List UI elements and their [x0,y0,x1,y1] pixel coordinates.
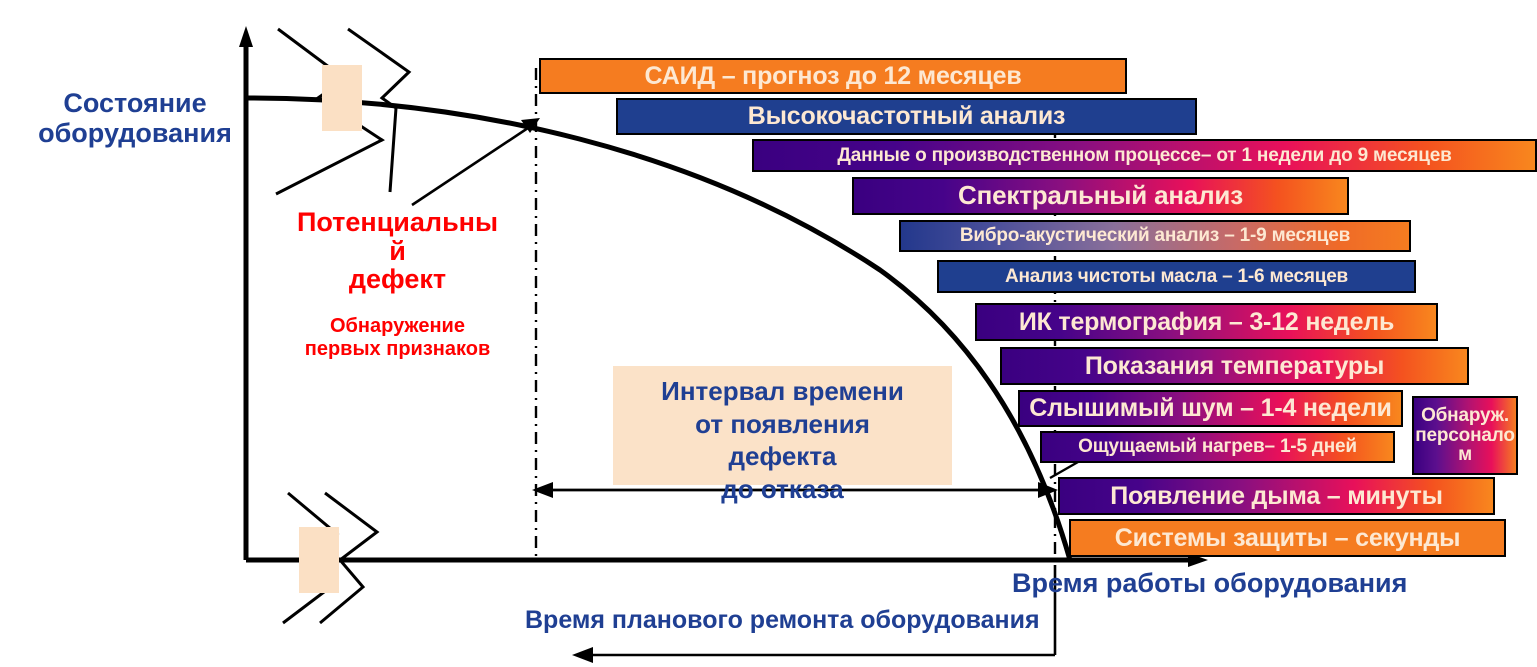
potential-defect-leader [412,124,534,205]
potential-defect-sub1: Обнаружение [265,315,530,338]
technique-bar-label: Системы защиты – секунды [1115,525,1461,551]
technique-bar-temperature: Показания температуры [1000,347,1469,385]
pf-curve-diagram: Состояние оборудования Потенциальны й де… [0,0,1537,667]
potential-defect-line1: Потенциальны [265,208,530,237]
detection-by-personnel-badge: Обнаруж. персонало м [1412,396,1518,475]
planned-repair-arrowhead [572,647,593,663]
interval-callout-text: Интервал времени от появления дефекта до… [600,375,965,505]
technique-bar-ir-thermo: ИК термография – 3-12 недель [975,303,1438,341]
y-axis-title: Состояние оборудования [20,88,250,148]
technique-bar-label: Появление дыма – минуты [1110,483,1443,509]
technique-bar-label: Показания температуры [1085,353,1384,379]
x-axis-title: Время работы оборудования [1012,568,1407,599]
technique-bar-label: САИД – прогноз до 12 месяцев [645,63,1022,89]
interval-line4: до отказа [600,473,965,506]
technique-bar-label: Анализ чистоты масла – 1-6 месяцев [1005,267,1348,287]
interval-line1: Интервал времени [600,375,965,408]
y-axis-title-line1: Состояние [20,88,250,118]
potential-defect-sub2: первых признаков [265,338,530,361]
technique-bar-smoke: Появление дыма – минуты [1058,477,1495,515]
technique-bar-label: Ощущаемый нагрев– 1-5 дней [1078,437,1357,457]
technique-bar-label: Слышимый шум – 1-4 недели [1029,395,1391,421]
technique-bar-high-freq: Высокочастотный анализ [616,98,1197,135]
interval-line2: от появления [600,408,965,441]
technique-bar-felt-heat: Ощущаемый нагрев– 1-5 дней [1040,431,1395,463]
potential-defect-title: Потенциальны й дефект [265,208,530,294]
technique-bar-spectral: Спектральный анализ [852,177,1349,215]
break-fill-upper [322,65,362,131]
technique-bar-process-data: Данные о производственном процессе– от 1… [752,139,1537,172]
detection-badge-line1: Обнаруж. [1421,406,1509,426]
technique-bar-audible-noise: Слышимый шум – 1-4 недели [1018,390,1403,427]
technique-bar-label: Вибро-акустический анализ – 1-9 месяцев [960,226,1350,246]
detection-badge-line2: персонало [1415,426,1515,446]
technique-bar-label: Спектральный анализ [958,182,1243,209]
technique-bar-label: Данные о производственном процессе– от 1… [837,146,1451,166]
potential-defect-subtitle: Обнаружение первых признаков [265,315,530,361]
technique-bar-oil-purity: Анализ чистоты масла – 1-6 месяцев [937,260,1416,293]
technique-bar-vibro: Вибро-акустический анализ – 1-9 месяцев [899,220,1411,252]
interval-line3: дефекта [600,440,965,473]
break-fill-lower [299,527,339,593]
detection-badge-line3: м [1458,445,1472,465]
technique-bar-label: ИК термография – 3-12 недель [1019,309,1394,335]
y-axis-title-line2: оборудования [20,118,250,148]
potential-defect-line2: й [265,237,530,266]
technique-bar-said: САИД – прогноз до 12 месяцев [539,58,1127,94]
planned-repair-label: Время планового ремонта оборудования [525,606,1040,635]
potential-defect-line3: дефект [265,265,530,294]
technique-bar-label: Высокочастотный анализ [748,103,1066,129]
y-axis-arrowhead [239,26,253,47]
technique-bar-protection: Системы защиты – секунды [1069,519,1506,557]
